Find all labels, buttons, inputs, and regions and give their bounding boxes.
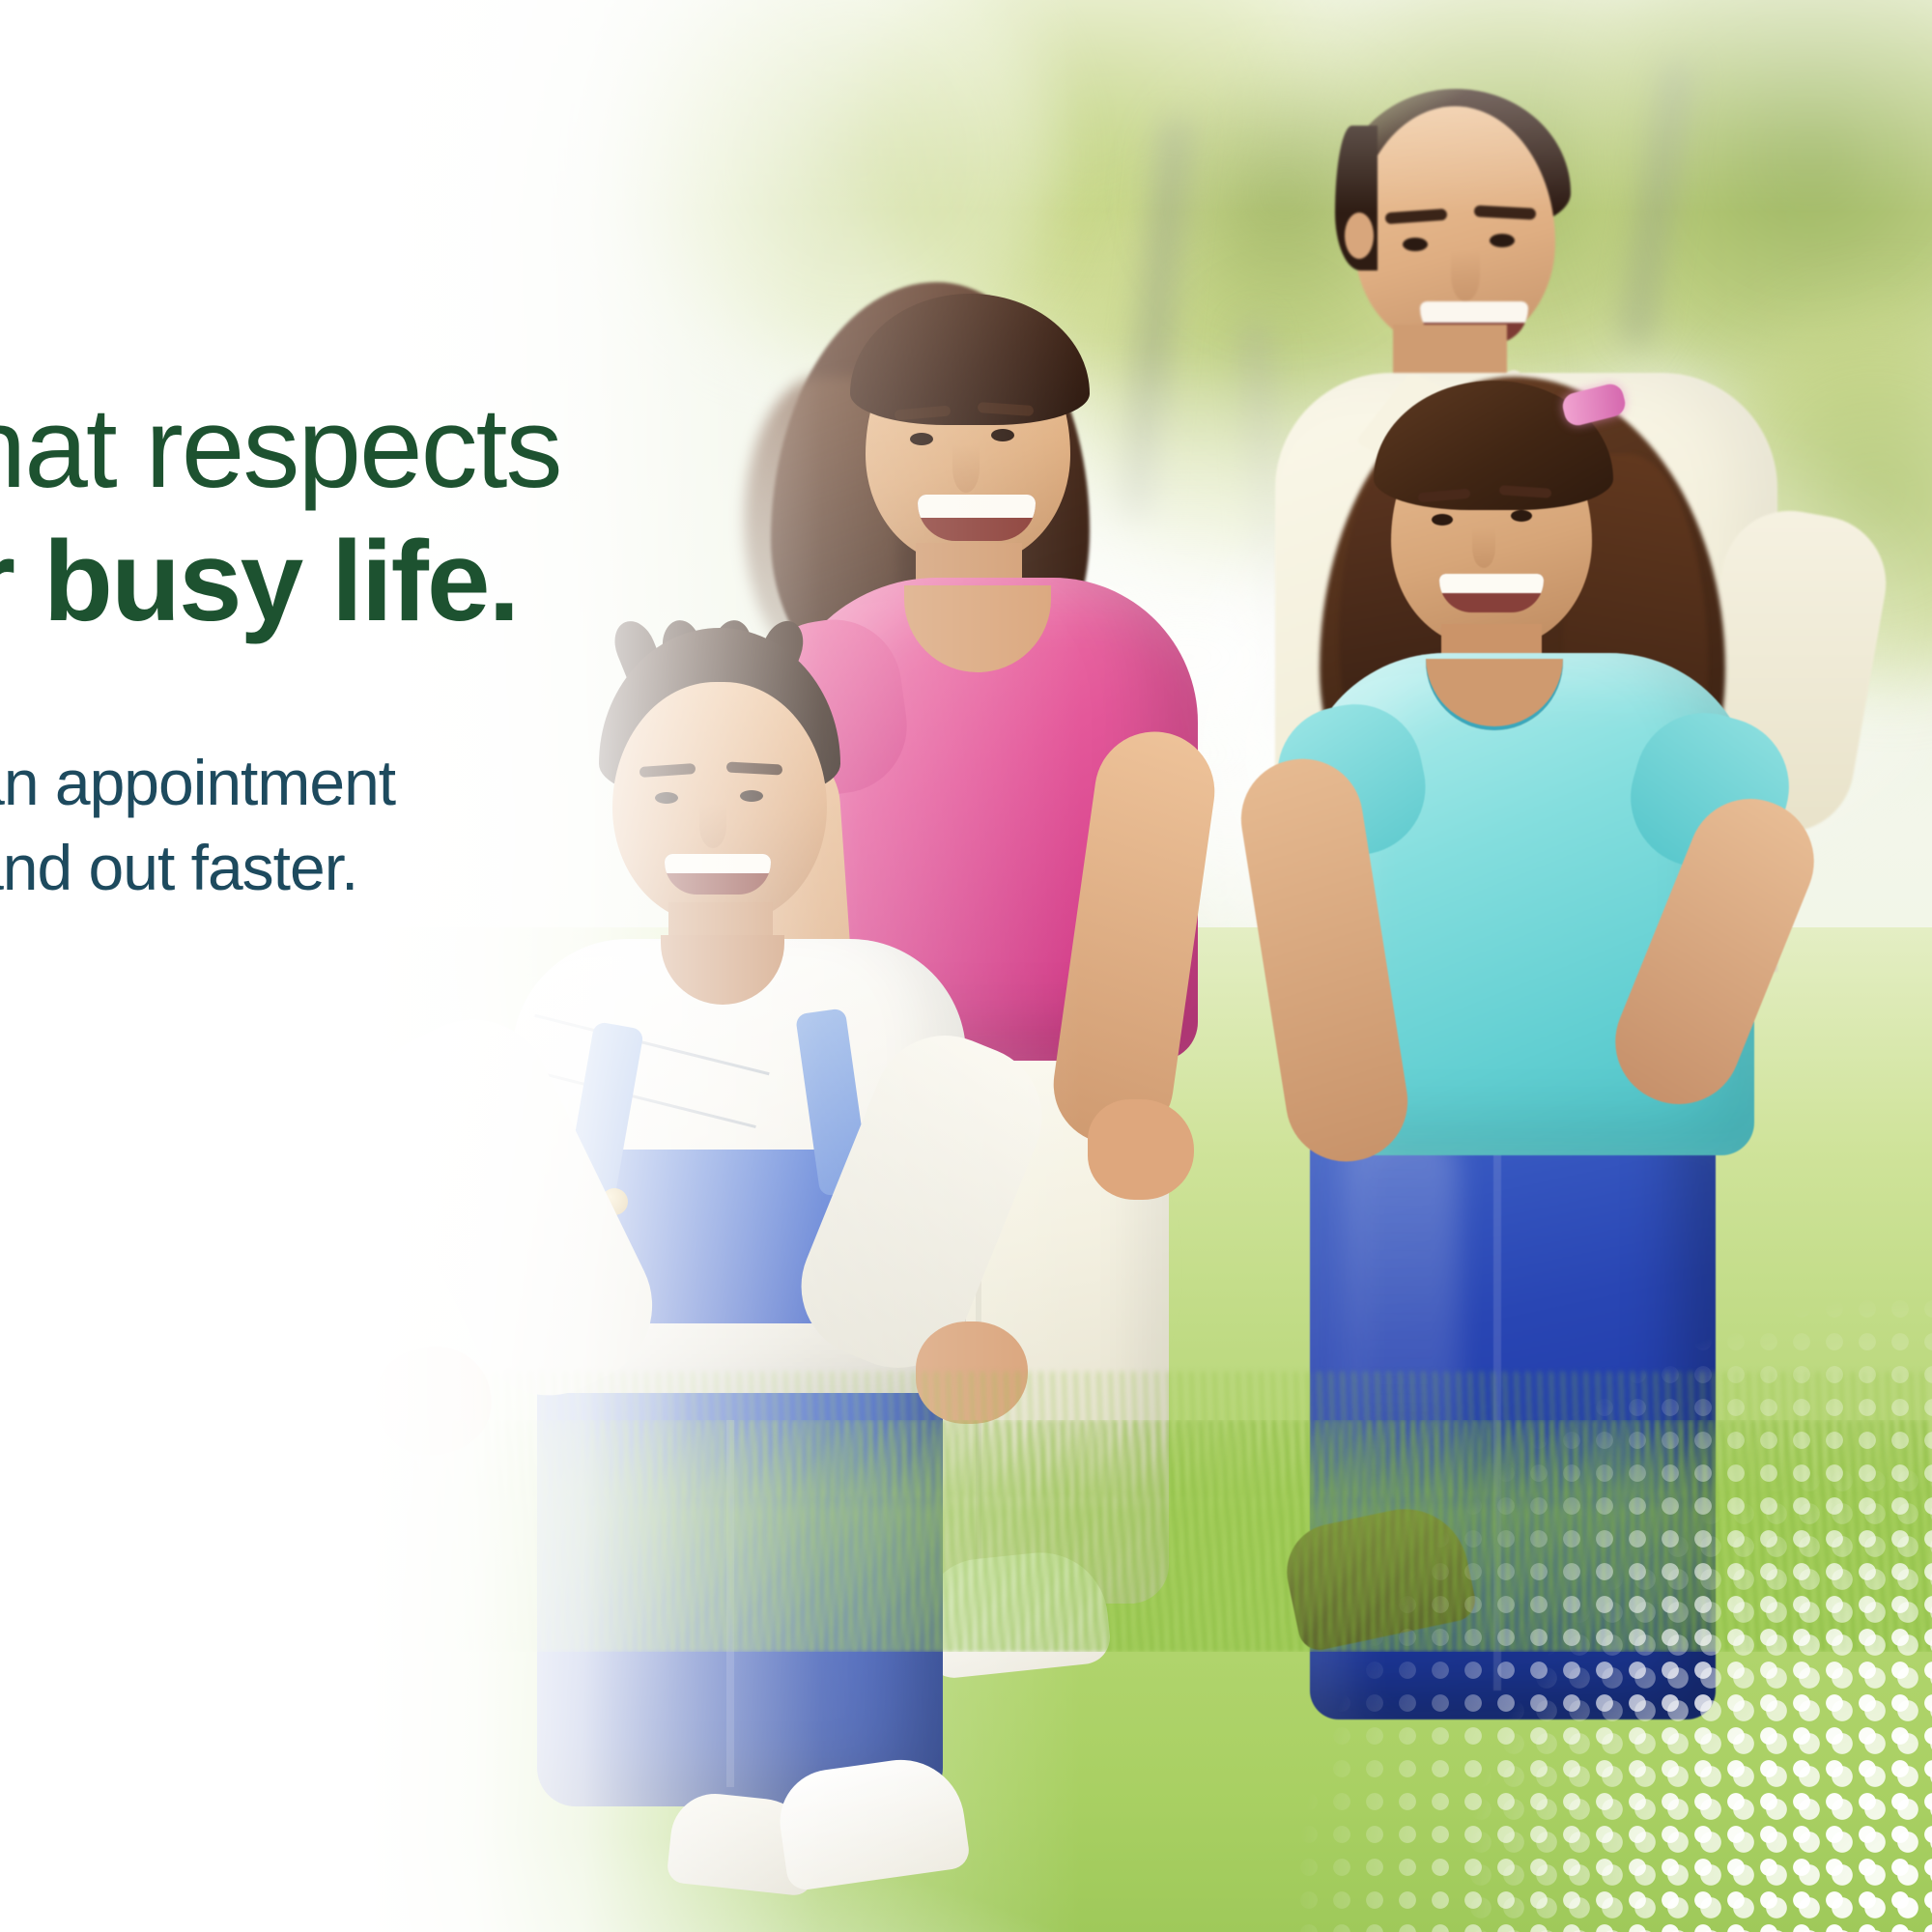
mother-hand: [1088, 1099, 1194, 1200]
father-nose: [1451, 249, 1480, 301]
daughter-eye: [1511, 510, 1532, 522]
subcopy-line1: dule an appointment: [0, 741, 802, 826]
subcopy-line2: et in and out faster.: [0, 826, 802, 911]
family-park-photograph: [0, 0, 1932, 1932]
headline-line2: our busy life.: [0, 515, 802, 648]
headline-line1-rest: that respects: [0, 384, 560, 512]
mother-nose: [952, 444, 980, 493]
daughter-nose: [1472, 527, 1495, 568]
father-eye: [1403, 238, 1428, 251]
hero-subcopy: dule an appointmentet in and out faster.: [0, 741, 802, 911]
mother-eye: [991, 429, 1014, 441]
father-teeth: [1420, 301, 1528, 323]
father-eye: [1490, 234, 1515, 247]
hero-banner: b that respectsour busy life. dule an ap…: [0, 0, 1932, 1932]
mother-teeth: [918, 495, 1036, 518]
daughter-eye: [1432, 514, 1453, 526]
grass-blades-foreground: [0, 1420, 1932, 1652]
mother-eye: [910, 433, 933, 445]
mother-mouth: [918, 495, 1036, 541]
father-ear: [1345, 213, 1374, 259]
hero-headline: b that respectsour busy life.: [0, 382, 802, 648]
hero-copy-block: b that respectsour busy life. dule an ap…: [0, 382, 802, 911]
father-hair-side: [1528, 124, 1575, 259]
daughter-mouth: [1439, 574, 1544, 612]
daughter-teeth: [1439, 574, 1544, 593]
